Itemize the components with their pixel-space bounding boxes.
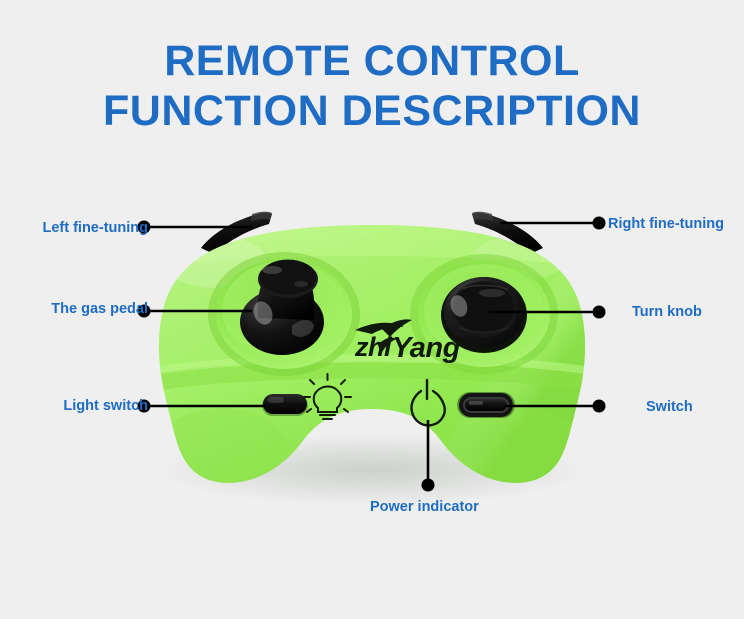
callout-label-left-fine-tuning: Left fine-tuning (42, 221, 148, 236)
svg-text:zhi: zhi (354, 332, 392, 362)
callout-label-light-switch: Light switch (63, 399, 148, 414)
callout-label-power-indicator: Power indicator (370, 500, 479, 515)
illustration-canvas: REMOTE CONTROL FUNCTION DESCRIPTION (0, 0, 744, 619)
callout-label-the-gas-pedal: The gas pedal (51, 302, 148, 317)
light-button[interactable] (262, 394, 308, 416)
callout-label-switch: Switch (646, 400, 693, 415)
callout-label-turn-knob: Turn knob (632, 305, 702, 320)
svg-text:Yang: Yang (392, 332, 461, 364)
callout-label-right-fine-tuning: Right fine-tuning (608, 217, 724, 232)
